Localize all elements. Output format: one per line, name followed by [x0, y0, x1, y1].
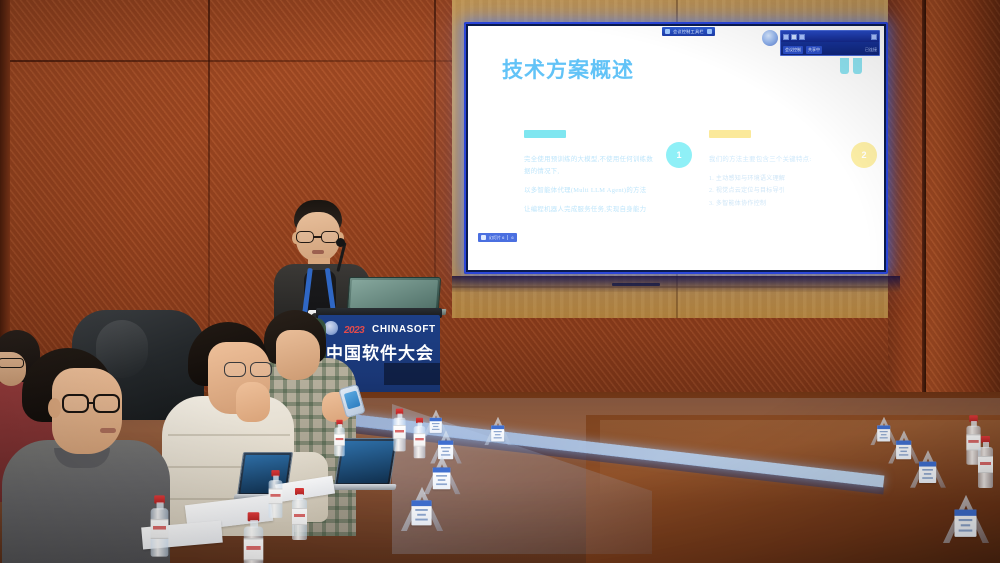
water-bottle — [151, 495, 169, 556]
slide-left-column: 完全使用预训练的大模型,不使用任何训练数据的情况下, 以多智能体代理(Multi… — [524, 130, 656, 222]
display-shelf-shadow — [452, 276, 900, 292]
pin-icon[interactable] — [871, 34, 877, 40]
slide-title: 技术方案概述 — [502, 54, 634, 84]
water-bottle — [978, 436, 993, 488]
person-2-glasses-icon — [224, 362, 272, 378]
right-list-item-1: 1. 主动感知与环境语义理解 — [709, 173, 841, 186]
meeting-toolbar-label: 会议控制工具栏 — [673, 29, 704, 35]
water-bottle — [269, 470, 283, 518]
podium-year: 2023 — [344, 325, 364, 336]
person-4-glasses-icon — [0, 358, 24, 368]
slide-right-column: 我们的方法主要包含三个关键特点: 1. 主动感知与环境语义理解 2. 视觉点云定… — [709, 130, 841, 211]
right-wood-pillar — [888, 0, 1000, 432]
wall-seam-vertical-1 — [208, 0, 210, 340]
water-bottle — [393, 409, 405, 452]
left-wall-edge — [0, 0, 10, 340]
maximize-icon[interactable] — [791, 34, 797, 40]
left-paragraph-3: 让编程机器人完成服务任务,实现自身能力 — [524, 204, 656, 216]
nameplate-card — [896, 441, 911, 460]
conference-emblem-icon — [324, 321, 338, 335]
window-status: 已连接 — [865, 47, 877, 53]
pillar-edge-shadow — [922, 0, 926, 432]
window-body: 会议控制 共享中 已连接 — [781, 42, 879, 56]
minimize-icon[interactable] — [783, 34, 789, 40]
right-paragraph-1: 我们的方法主要包含三个关键特点: — [709, 154, 841, 166]
laptop-1-base — [331, 484, 396, 490]
conference-room-scene: 技术方案概述 完全使用预训练的大模型,不使用任何训练数据的情况下, 以多智能体代… — [0, 0, 1000, 563]
display-mount-bracket — [612, 283, 660, 286]
slide-page-number: 6 — [507, 235, 513, 240]
presenter-laptop-lid — [347, 277, 441, 311]
slide-icon — [481, 235, 486, 240]
podium-shadow-band — [384, 363, 440, 385]
nameplate-card — [491, 425, 504, 441]
close-icon[interactable] — [799, 34, 805, 40]
share-icon[interactable] — [707, 29, 712, 34]
right-feature-list: 1. 主动感知与环境语义理解 2. 视觉点云定位与目标导引 3. 多智能体协作控… — [709, 173, 841, 211]
podium-brand: CHINASOFT — [372, 324, 436, 335]
person-1-glasses-icon — [62, 394, 120, 414]
right-list-item-2: 2. 视觉点云定位与目标导引 — [709, 185, 841, 198]
person-3-face — [276, 330, 320, 380]
person-2-hand — [236, 382, 270, 422]
slide-footer-badge[interactable]: 幻灯片 6 6 — [478, 233, 517, 242]
table-nameplate — [943, 495, 989, 543]
chip-meeting-control[interactable]: 会议控制 — [783, 46, 803, 54]
person-1-ear — [48, 398, 61, 418]
left-accent-bar — [524, 130, 566, 138]
nameplate-card — [411, 500, 431, 525]
quote-mark-decoration — [840, 58, 862, 74]
podium-chinese-name: 中国软件大会 — [326, 339, 434, 364]
water-bottle — [414, 418, 426, 459]
left-badge-number: 1 — [666, 142, 692, 168]
water-bottle — [292, 488, 307, 540]
presenter-glasses-icon — [295, 231, 342, 243]
table-nameplate — [910, 450, 946, 488]
chip-sharing[interactable]: 共享中 — [806, 46, 822, 54]
person-2-quilt-seam-1 — [168, 434, 290, 436]
slide-footer-label: 幻灯片 6 — [489, 235, 504, 241]
table-nameplate — [484, 417, 511, 446]
signal-icon — [665, 29, 670, 34]
right-badge-number: 2 — [851, 142, 877, 168]
water-bottle — [334, 420, 345, 456]
meeting-toolbar-overlay[interactable]: 会议控制工具栏 — [662, 27, 715, 36]
presenter-mouth — [312, 250, 324, 254]
slide-canvas[interactable]: 技术方案概述 完全使用预训练的大模型,不使用任何训练数据的情况下, 以多智能体代… — [468, 26, 884, 270]
laptop-1-screen — [338, 441, 395, 483]
presenter-laptop-screen — [350, 280, 438, 308]
left-paragraph-2: 以多智能体代理(Multi LLM Agent)的方法 — [524, 185, 656, 197]
meeting-control-window[interactable]: 会议控制 共享中 已连接 — [780, 30, 880, 56]
wall-seam-horizontal — [0, 60, 470, 62]
window-titlebar[interactable] — [781, 31, 879, 42]
right-accent-bar — [709, 130, 751, 138]
table-nameplate — [401, 487, 443, 531]
meeting-app-logo-icon — [762, 30, 778, 46]
microphone-icon — [336, 238, 345, 247]
nameplate-card — [919, 462, 936, 483]
wall-seam-vertical-2 — [434, 0, 436, 300]
right-list-item-3: 3. 多智能体协作控制 — [709, 198, 841, 211]
left-paragraph-1: 完全使用预训练的大模型,不使用任何训练数据的情况下, — [524, 154, 656, 178]
person-1-mouth — [100, 428, 116, 433]
wall-display[interactable]: 技术方案概述 完全使用预训练的大模型,不使用任何训练数据的情况下, 以多智能体代… — [464, 22, 888, 274]
nameplate-card — [954, 510, 976, 537]
water-bottle — [244, 512, 264, 563]
